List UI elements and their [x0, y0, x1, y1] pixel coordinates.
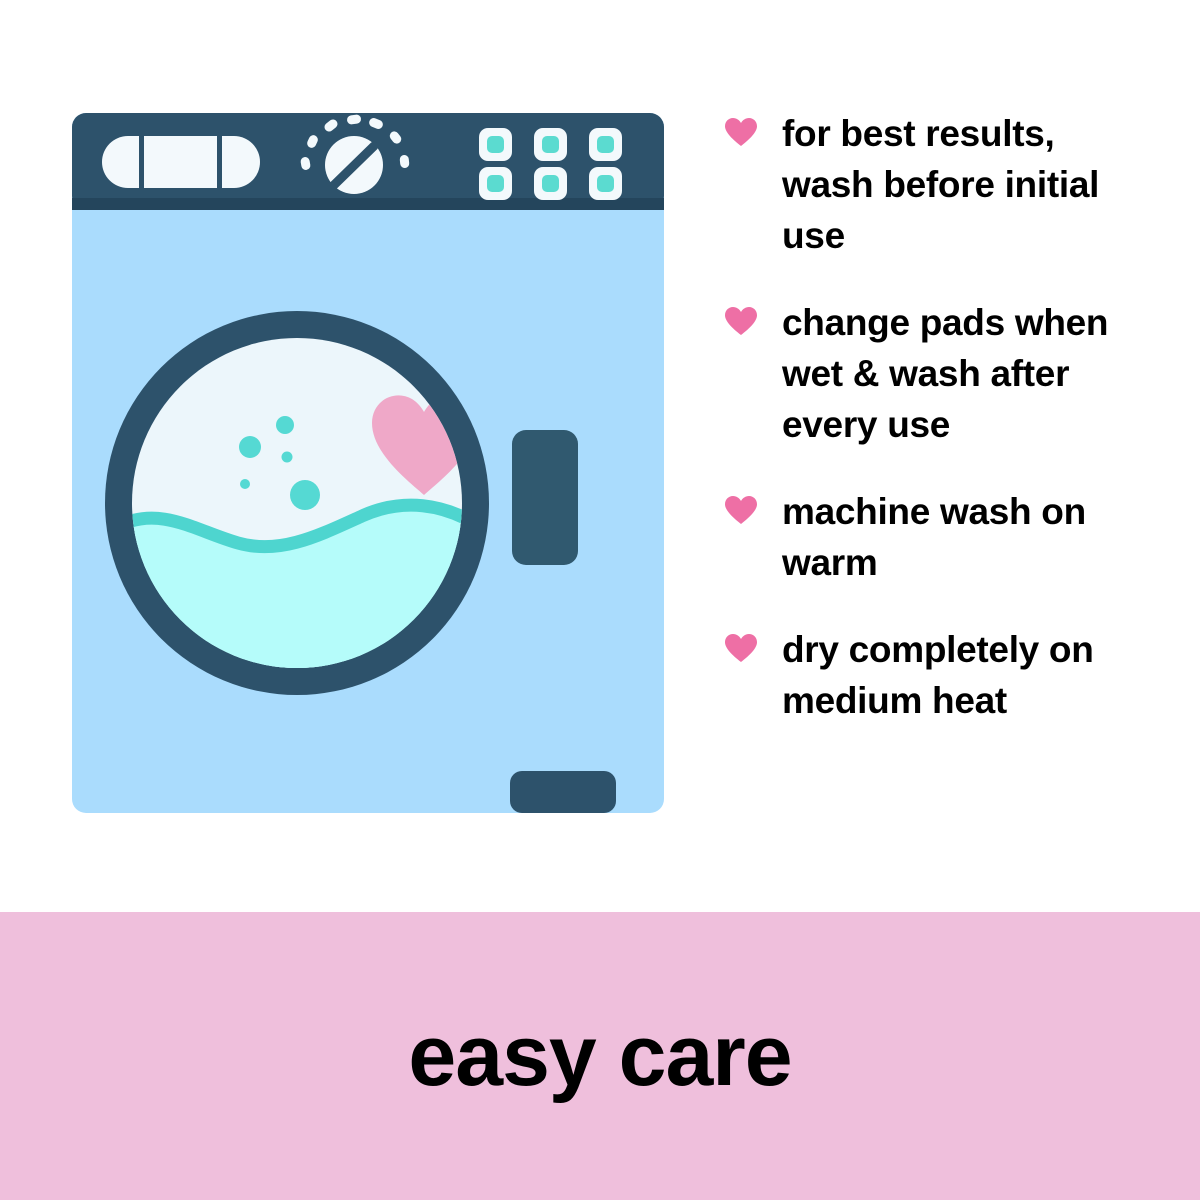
- control-button: [534, 167, 567, 200]
- care-instructions-list: for best results, wash before initial us…: [724, 108, 1144, 726]
- easy-care-infographic: for best results, wash before initial us…: [0, 0, 1200, 1200]
- care-item: machine wash on warm: [724, 486, 1144, 588]
- heart-icon: [724, 306, 758, 336]
- care-item-text: machine wash on warm: [782, 486, 1132, 588]
- care-item-text: dry completely on medium heat: [782, 624, 1132, 726]
- page-title: easy care: [408, 1013, 791, 1099]
- bubble-icon: [276, 416, 294, 434]
- care-item-text: change pads when wet & wash after every …: [782, 297, 1132, 450]
- care-item: for best results, wash before initial us…: [724, 108, 1144, 261]
- porthole-door: [105, 311, 489, 695]
- control-button: [589, 128, 622, 161]
- heart-icon: [724, 633, 758, 663]
- bubble-icon: [282, 452, 293, 463]
- footer-banner: easy care: [0, 912, 1200, 1200]
- bubble-icon: [239, 436, 261, 458]
- door-handle-icon: [512, 430, 578, 565]
- control-button: [534, 128, 567, 161]
- control-button: [479, 167, 512, 200]
- content-area: for best results, wash before initial us…: [0, 0, 1200, 912]
- control-panel: [72, 113, 664, 210]
- care-item: dry completely on medium heat: [724, 624, 1144, 726]
- heart-icon: [724, 495, 758, 525]
- care-item-text: for best results, wash before initial us…: [782, 108, 1132, 261]
- detergent-drawer-icon: [102, 136, 260, 188]
- care-item: change pads when wet & wash after every …: [724, 297, 1144, 450]
- bubble-icon: [290, 480, 320, 510]
- heart-icon: [724, 117, 758, 147]
- bubble-icon: [240, 479, 250, 489]
- washing-machine-illustration: [72, 113, 664, 813]
- control-button: [589, 167, 622, 200]
- drain-filter-tab: [510, 771, 616, 813]
- control-button: [479, 128, 512, 161]
